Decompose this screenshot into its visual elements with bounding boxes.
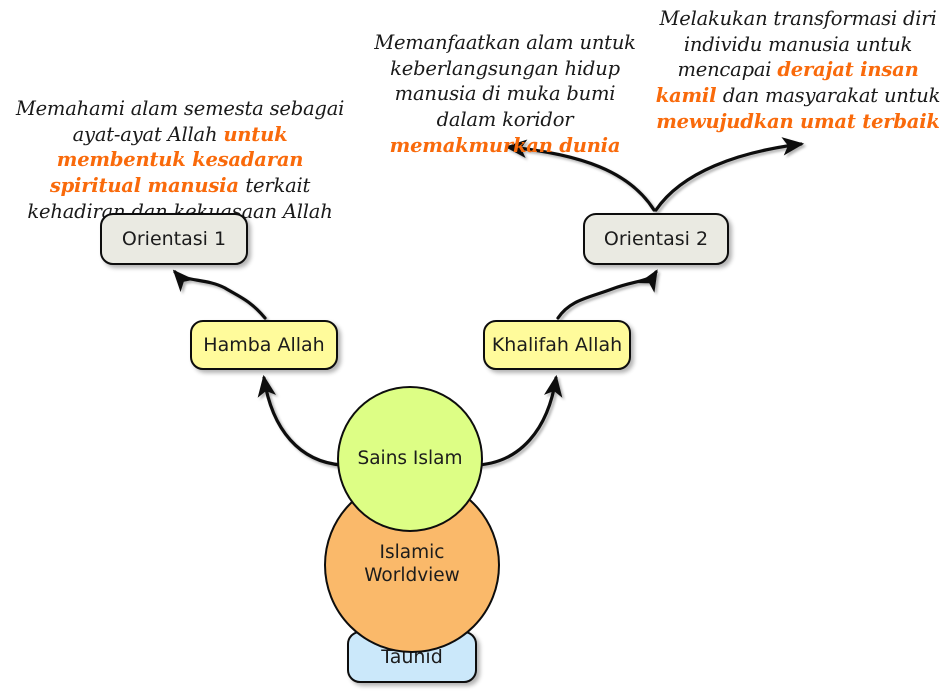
text-segment-0: Memahami alam semesta sebagai ayat-ayat …	[16, 97, 344, 146]
node-orientasi-1[interactable]: Orientasi 1	[100, 213, 248, 265]
text-segment-1: memakmurkan dunia	[390, 134, 621, 157]
edge-hamba-allah-to-orientasi-1	[175, 272, 265, 318]
node-sains-islam[interactable]: Sains Islam	[337, 386, 483, 532]
node-sains-islam-label: Sains Islam	[357, 448, 462, 471]
edge-sains-islam-to-khalifah-allah	[478, 378, 556, 465]
text-segment-2: dan masyarakat untuk	[723, 84, 940, 107]
node-islamic-worldview-label-line-2: Worldview	[364, 565, 460, 586]
text-segment-3: mewujudkan umat terbaik	[656, 110, 940, 133]
node-hamba-allah-label: Hamba Allah	[203, 334, 324, 356]
orientasi-2-description-a: Memanfaatkan alam untuk keberlangsungan …	[368, 30, 642, 159]
node-islamic-worldview-label: Islamic Worldview	[364, 542, 460, 587]
orientasi-1-description: Memahami alam semesta sebagai ayat-ayat …	[14, 96, 346, 225]
orientasi-2-description-b: Melakukan transformasi diri individu man…	[654, 6, 942, 135]
node-islamic-worldview-label-line-1: Islamic	[380, 542, 445, 563]
node-hamba-allah[interactable]: Hamba Allah	[190, 320, 338, 370]
text-segment-0: Memanfaatkan alam untuk keberlangsungan …	[374, 31, 636, 131]
node-orientasi-1-label: Orientasi 1	[122, 228, 226, 250]
node-orientasi-2[interactable]: Orientasi 2	[583, 213, 729, 265]
edge-orientasi-2-to-description-b	[656, 144, 801, 210]
node-orientasi-2-label: Orientasi 2	[604, 228, 708, 250]
edge-sains-islam-to-hamba-allah	[264, 378, 342, 465]
diagram-canvas: Memahami alam semesta sebagai ayat-ayat …	[0, 0, 942, 700]
node-khalifah-allah[interactable]: Khalifah Allah	[483, 320, 631, 370]
node-khalifah-allah-label: Khalifah Allah	[492, 334, 622, 356]
edge-khalifah-allah-to-orientasi-2	[558, 272, 656, 318]
